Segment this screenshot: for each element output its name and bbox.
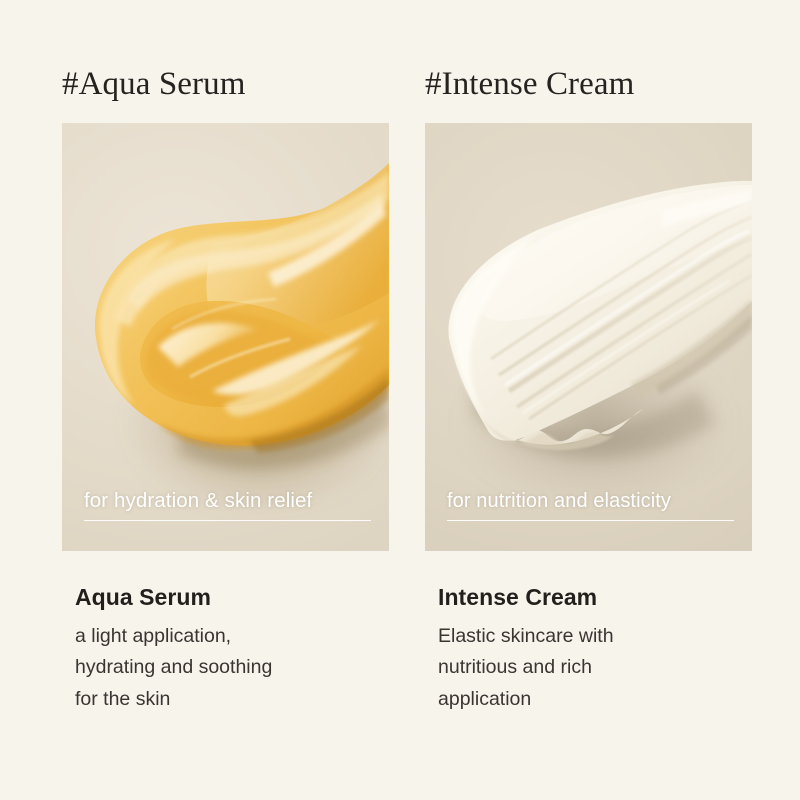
product-card-aqua-serum: #Aqua Serum: [0, 0, 425, 800]
hashtag-heading-aqua-serum: #Aqua Serum: [62, 0, 425, 101]
description-line: a light application,: [75, 621, 375, 653]
product-description-intense-cream: Elastic skincare with nutritious and ric…: [438, 621, 738, 716]
description-line: for the skin: [75, 684, 375, 716]
product-description-aqua-serum: a light application, hydrating and sooth…: [75, 621, 375, 716]
product-title-intense-cream: Intense Cream: [438, 584, 800, 612]
swatch-panel-intense-cream: for nutrition and elasticity: [425, 123, 752, 551]
cream-swatch-image: [425, 123, 752, 551]
product-title-aqua-serum: Aqua Serum: [75, 584, 425, 612]
product-card-intense-cream: #Intense Cream: [425, 0, 800, 800]
swatch-panel-aqua-serum: for hydration & skin relief: [62, 123, 389, 551]
swatch-caption-intense-cream: for nutrition and elasticity: [447, 489, 734, 521]
description-line: Elastic skincare with: [438, 621, 738, 653]
description-line: nutritious and rich: [438, 652, 738, 684]
product-comparison-page: #Aqua Serum: [0, 0, 800, 800]
description-line: application: [438, 684, 738, 716]
product-info-aqua-serum: Aqua Serum a light application, hydratin…: [62, 584, 425, 715]
swatch-caption-aqua-serum: for hydration & skin relief: [84, 488, 371, 521]
product-info-intense-cream: Intense Cream Elastic skincare with nutr…: [425, 584, 800, 715]
hashtag-heading-intense-cream: #Intense Cream: [425, 0, 800, 101]
description-line: hydrating and soothing: [75, 652, 375, 684]
serum-swatch-image: [62, 123, 389, 551]
product-columns: #Aqua Serum: [0, 0, 800, 800]
